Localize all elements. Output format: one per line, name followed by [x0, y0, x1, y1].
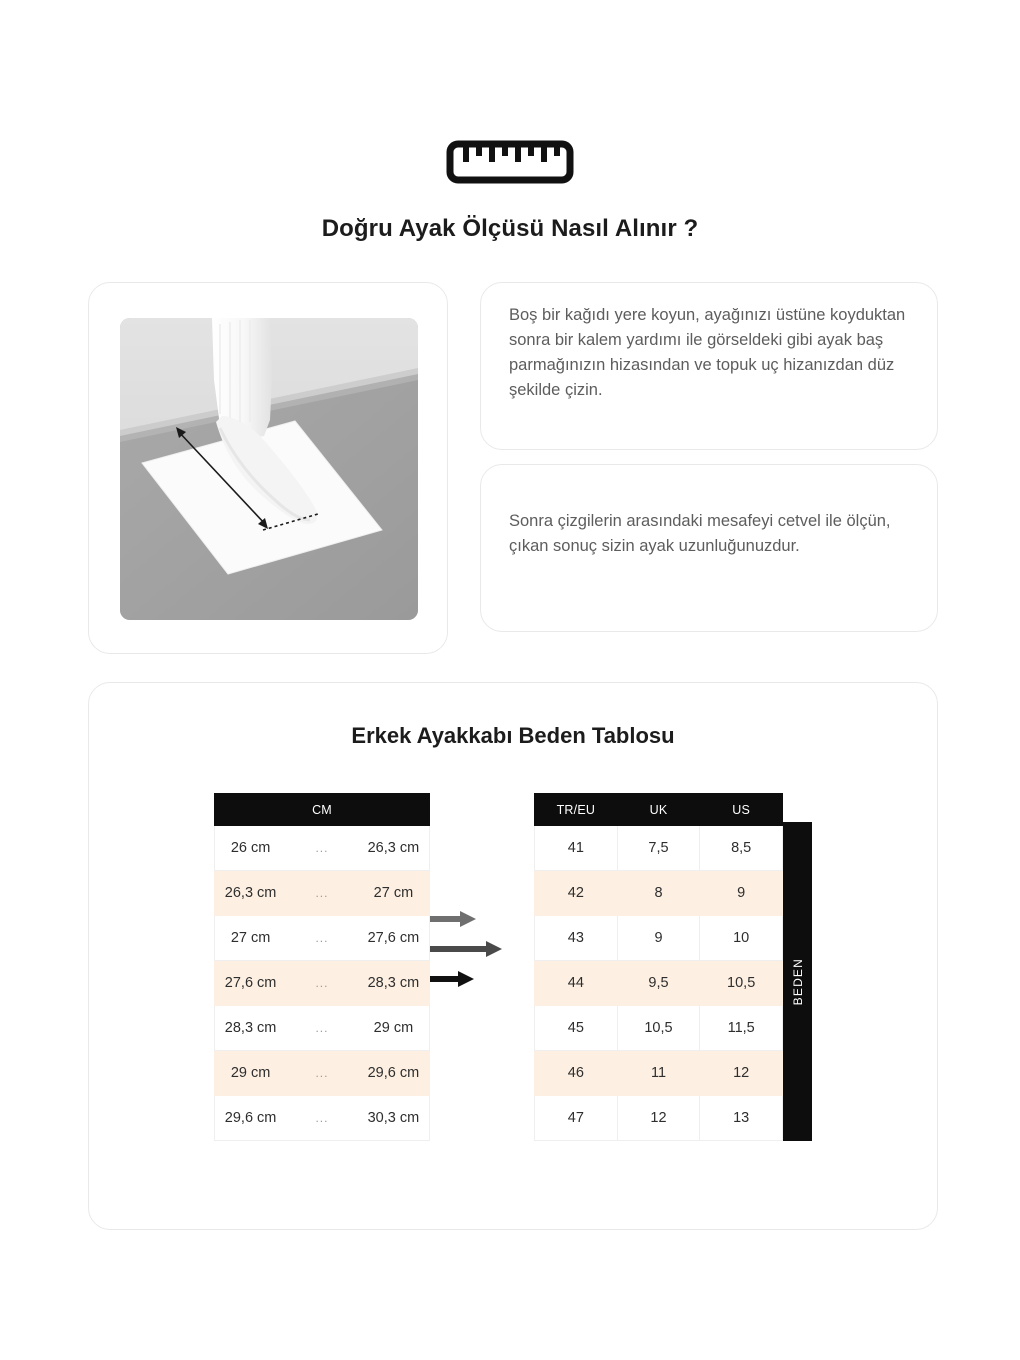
- instruction-card-1: Boş bir kağıdı yere koyun, ayağınızı üst…: [480, 282, 938, 450]
- us-cell: 9: [700, 871, 783, 916]
- cm-table-header-row: CM: [215, 794, 430, 826]
- ruler-icon-container: [0, 140, 1020, 189]
- size-table-row: 4289: [535, 871, 783, 916]
- cm-table-body: 26 cm...26,3 cm26,3 cm...27 cm27 cm...27…: [215, 826, 430, 1141]
- instruction-text-2: Sonra çizgilerin arasındaki mesafeyi cet…: [509, 509, 911, 559]
- us-cell: 11,5: [700, 1006, 783, 1051]
- cm-from-cell: 26,3 cm: [215, 871, 287, 916]
- page-title: Doğru Ayak Ölçüsü Nasıl Alınır ?: [0, 215, 1020, 243]
- beden-side-bar: BEDEN: [783, 822, 812, 1141]
- cm-from-cell: 27 cm: [215, 916, 287, 961]
- size-table-row: 417,58,5: [535, 826, 783, 871]
- tr-eu-cell: 43: [535, 916, 618, 961]
- us-cell: 12: [700, 1051, 783, 1096]
- cm-to-cell: 29 cm: [358, 1006, 430, 1051]
- instruction-card-2: Sonra çizgilerin arasındaki mesafeyi cet…: [480, 464, 938, 632]
- cm-range-dots: ...: [286, 1051, 358, 1096]
- size-table-body: 417,58,5428943910449,510,54510,511,54611…: [535, 826, 783, 1141]
- uk-cell: 12: [617, 1096, 700, 1141]
- size-column-header-tr-eu: TR/EU: [535, 794, 618, 826]
- cm-from-cell: 27,6 cm: [215, 961, 287, 1006]
- size-table-row: 43910: [535, 916, 783, 961]
- arrow-right-icon-2: [430, 941, 502, 962]
- size-table-card: Erkek Ayakkabı Beden Tablosu CM 26 cm...…: [88, 682, 938, 1230]
- size-tables-row: CM 26 cm...26,3 cm26,3 cm...27 cm27 cm..…: [89, 793, 937, 1141]
- tr-eu-cell: 45: [535, 1006, 618, 1051]
- cm-to-cell: 26,3 cm: [358, 826, 430, 871]
- cm-range-dots: ...: [286, 871, 358, 916]
- size-table-row: 4510,511,5: [535, 1006, 783, 1051]
- us-cell: 10: [700, 916, 783, 961]
- cm-table-row: 27,6 cm...28,3 cm: [215, 961, 430, 1006]
- cm-range-dots: ...: [286, 916, 358, 961]
- arrow-right-icon-1: [430, 911, 476, 932]
- size-column-header-uk: UK: [617, 794, 700, 826]
- cm-table: CM 26 cm...26,3 cm26,3 cm...27 cm27 cm..…: [214, 793, 430, 1141]
- beden-label: BEDEN: [791, 958, 805, 1005]
- cm-to-cell: 28,3 cm: [358, 961, 430, 1006]
- size-table-row: 461112: [535, 1051, 783, 1096]
- uk-cell: 9: [617, 916, 700, 961]
- size-table: TR/EUUKUS 417,58,5428943910449,510,54510…: [534, 793, 783, 1141]
- cm-range-dots: ...: [286, 1096, 358, 1141]
- tr-eu-cell: 41: [535, 826, 618, 871]
- instruction-photo-card: [88, 282, 448, 654]
- uk-cell: 7,5: [617, 826, 700, 871]
- cm-from-cell: 29,6 cm: [215, 1096, 287, 1141]
- arrow-right-icon-3: [430, 971, 474, 992]
- size-table-row: 471213: [535, 1096, 783, 1141]
- cm-table-row: 27 cm...27,6 cm: [215, 916, 430, 961]
- cm-column-header: CM: [215, 794, 430, 826]
- size-values-block: TR/EUUKUS 417,58,5428943910449,510,54510…: [534, 793, 812, 1141]
- cm-from-cell: 28,3 cm: [215, 1006, 287, 1051]
- size-table-header-row: TR/EUUKUS: [535, 794, 783, 826]
- cm-to-cell: 27,6 cm: [358, 916, 430, 961]
- arrow-group: [430, 793, 534, 992]
- cm-to-cell: 30,3 cm: [358, 1096, 430, 1141]
- size-table-title: Erkek Ayakkabı Beden Tablosu: [89, 723, 937, 749]
- uk-cell: 10,5: [617, 1006, 700, 1051]
- size-guide-page: Doğru Ayak Ölçüsü Nasıl Alınır ?: [0, 0, 1020, 1360]
- ruler-icon: [446, 140, 574, 189]
- us-cell: 8,5: [700, 826, 783, 871]
- cm-to-cell: 29,6 cm: [358, 1051, 430, 1096]
- foot-measurement-photo: [120, 318, 418, 620]
- us-cell: 10,5: [700, 961, 783, 1006]
- instruction-text-1: Boş bir kağıdı yere koyun, ayağınızı üst…: [509, 303, 911, 403]
- cm-table-row: 28,3 cm...29 cm: [215, 1006, 430, 1051]
- tr-eu-cell: 44: [535, 961, 618, 1006]
- tr-eu-cell: 47: [535, 1096, 618, 1141]
- cm-table-row: 29 cm...29,6 cm: [215, 1051, 430, 1096]
- cm-from-cell: 29 cm: [215, 1051, 287, 1096]
- size-column-header-us: US: [700, 794, 783, 826]
- size-table-row: 449,510,5: [535, 961, 783, 1006]
- cm-table-row: 29,6 cm...30,3 cm: [215, 1096, 430, 1141]
- uk-cell: 11: [617, 1051, 700, 1096]
- uk-cell: 9,5: [617, 961, 700, 1006]
- cm-range-dots: ...: [286, 1006, 358, 1051]
- us-cell: 13: [700, 1096, 783, 1141]
- cm-from-cell: 26 cm: [215, 826, 287, 871]
- cm-table-row: 26 cm...26,3 cm: [215, 826, 430, 871]
- cm-table-row: 26,3 cm...27 cm: [215, 871, 430, 916]
- cm-range-dots: ...: [286, 961, 358, 1006]
- uk-cell: 8: [617, 871, 700, 916]
- cm-to-cell: 27 cm: [358, 871, 430, 916]
- cm-range-dots: ...: [286, 826, 358, 871]
- tr-eu-cell: 42: [535, 871, 618, 916]
- tr-eu-cell: 46: [535, 1051, 618, 1096]
